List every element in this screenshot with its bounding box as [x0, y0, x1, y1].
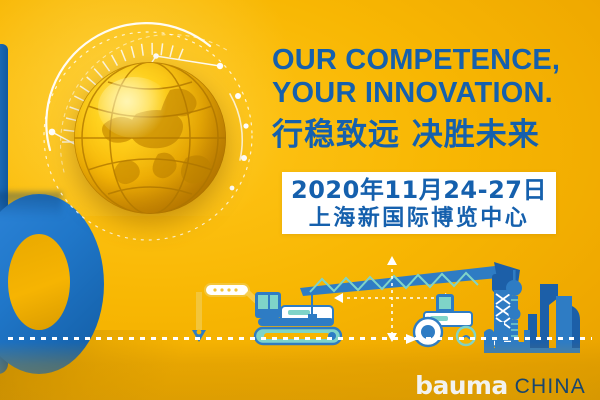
vignette-overlay — [0, 0, 600, 400]
logo-bauma-wordmark: bauma — [415, 373, 507, 398]
bauma-china-promo-poster: OUR COMPETENCE, YOUR INNOVATION. 行稳致远 决胜… — [0, 0, 600, 400]
logo-china-wordmark: CHINA — [515, 375, 586, 398]
bauma-china-logo: bauma CHINA — [415, 373, 586, 398]
